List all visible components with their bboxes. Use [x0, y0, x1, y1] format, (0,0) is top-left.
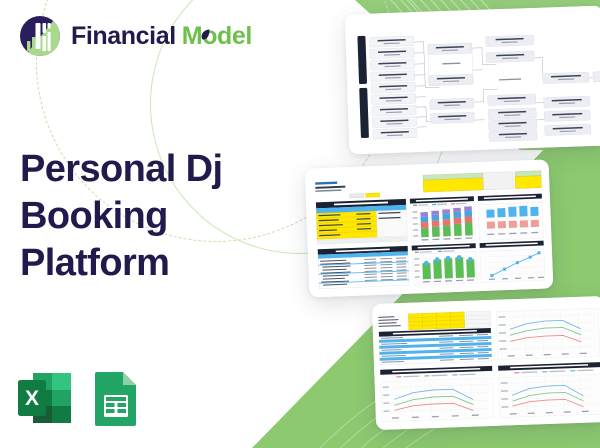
- excel-icon: X: [16, 368, 74, 428]
- preview-card-dashboard[interactable]: [305, 159, 554, 297]
- promo-banner: Financial Model Personal Dj Booking Plat…: [0, 0, 600, 448]
- brand-wordmark: Financial Model: [71, 24, 252, 49]
- page-title: Personal Dj Booking Platform: [20, 146, 270, 287]
- file-format-icons: X: [16, 368, 145, 428]
- svg-text:X: X: [25, 387, 39, 410]
- brand-name-part2: Model: [182, 24, 252, 49]
- preview-card-line-charts[interactable]: [372, 296, 600, 430]
- google-sheets-icon: [87, 368, 145, 428]
- page-title-line-3: Platform: [20, 240, 270, 287]
- preview-card-dupont-tree[interactable]: [345, 6, 600, 155]
- dupont-tree-diagram: [345, 6, 600, 155]
- leaf-icon: [201, 29, 210, 40]
- page-title-line-1: Personal Dj: [20, 146, 270, 193]
- financial-model-circle-chart-logo: [18, 14, 62, 58]
- dashboard-screenshot: [305, 159, 554, 297]
- brand-logo: Financial Model: [18, 14, 252, 58]
- page-title-line-2: Booking: [20, 193, 270, 240]
- brand-name-part1: Financial: [71, 24, 176, 49]
- margins-charts-screenshot: [372, 296, 600, 430]
